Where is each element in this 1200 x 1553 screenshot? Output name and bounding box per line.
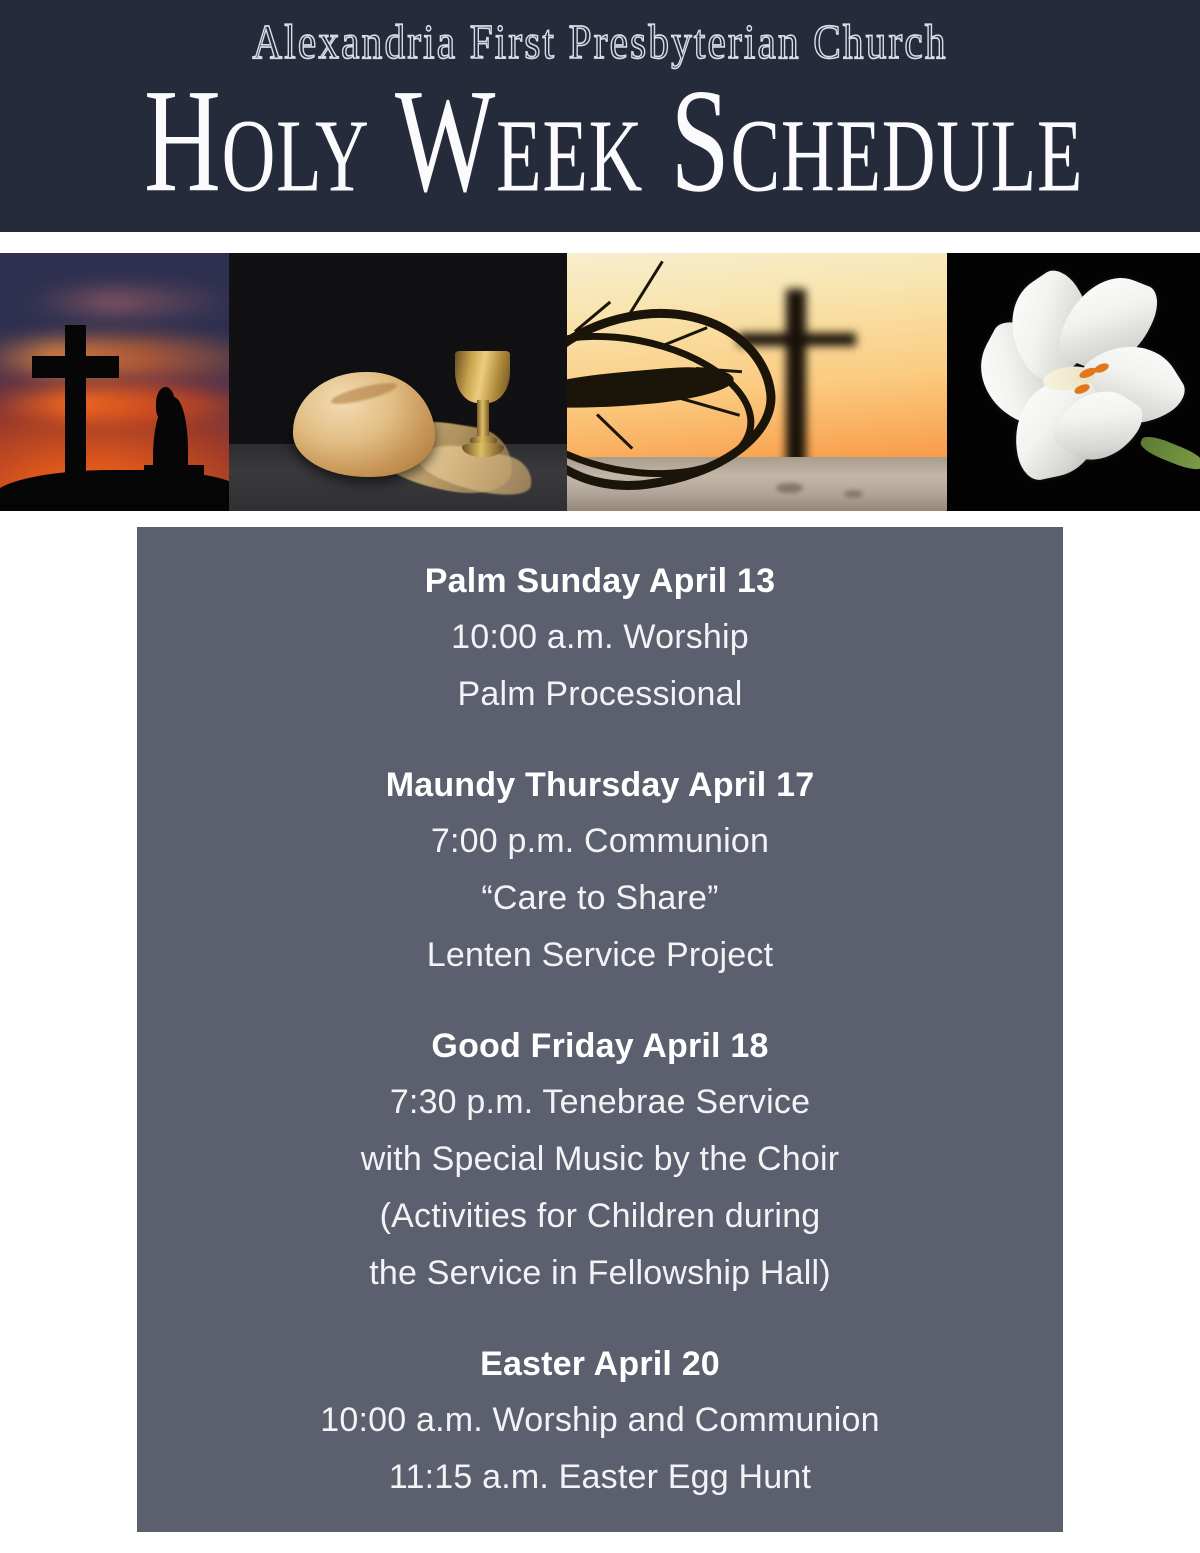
figure-head — [156, 387, 175, 421]
event-detail-line: 11:15 a.m. Easter Egg Hunt — [167, 1449, 1033, 1506]
event-detail-line: 10:00 a.m. Worship — [167, 609, 1033, 666]
cloud — [0, 387, 229, 421]
cross-horizontal-beam — [32, 356, 119, 378]
event-detail-line: with Special Music by the Choir — [167, 1131, 1033, 1188]
easter-lily-photo — [947, 253, 1200, 511]
event-detail-line: 7:30 p.m. Tenebrae Service — [167, 1074, 1033, 1131]
event-block-good-friday: Good Friday April 18 7:30 p.m. Tenebrae … — [167, 1018, 1033, 1302]
event-title: Palm Sunday April 13 — [167, 553, 1033, 609]
cloud — [23, 289, 229, 315]
event-detail-line: “Care to Share” — [167, 870, 1033, 927]
event-detail-line: Palm Processional — [167, 666, 1033, 723]
stone-mark — [776, 483, 803, 493]
header-banner: Alexandria First Presbyterian Church Hol… — [0, 0, 1200, 232]
event-detail-line: the Service in Fellowship Hall) — [167, 1245, 1033, 1302]
photo-strip — [0, 253, 1200, 511]
event-detail-line: 7:00 p.m. Communion — [167, 813, 1033, 870]
cross-vertical-beam — [65, 325, 86, 477]
cross-sunset-photo — [0, 253, 229, 511]
event-detail-line: 10:00 a.m. Worship and Communion — [167, 1392, 1033, 1449]
schedule-panel: Palm Sunday April 13 10:00 a.m. Worship … — [137, 527, 1063, 1532]
event-block-palm-sunday: Palm Sunday April 13 10:00 a.m. Worship … — [167, 553, 1033, 723]
event-detail-line: (Activities for Children during — [167, 1188, 1033, 1245]
chalice-bowl — [455, 351, 509, 403]
event-block-easter: Easter April 20 10:00 a.m. Worship and C… — [167, 1336, 1033, 1506]
page-title: Holy Week Schedule — [144, 62, 1056, 221]
crown-of-thorns-photo — [567, 253, 947, 511]
event-block-maundy-thursday: Maundy Thursday April 17 7:00 p.m. Commu… — [167, 757, 1033, 984]
event-title: Maundy Thursday April 17 — [167, 757, 1033, 813]
blurred-cross-vertical — [786, 289, 807, 467]
blurred-cross-horizontal — [738, 333, 856, 346]
event-title: Good Friday April 18 — [167, 1018, 1033, 1074]
event-detail-line: Lenten Service Project — [167, 927, 1033, 984]
event-title: Easter April 20 — [167, 1336, 1033, 1392]
bread-chalice-photo — [229, 253, 567, 511]
